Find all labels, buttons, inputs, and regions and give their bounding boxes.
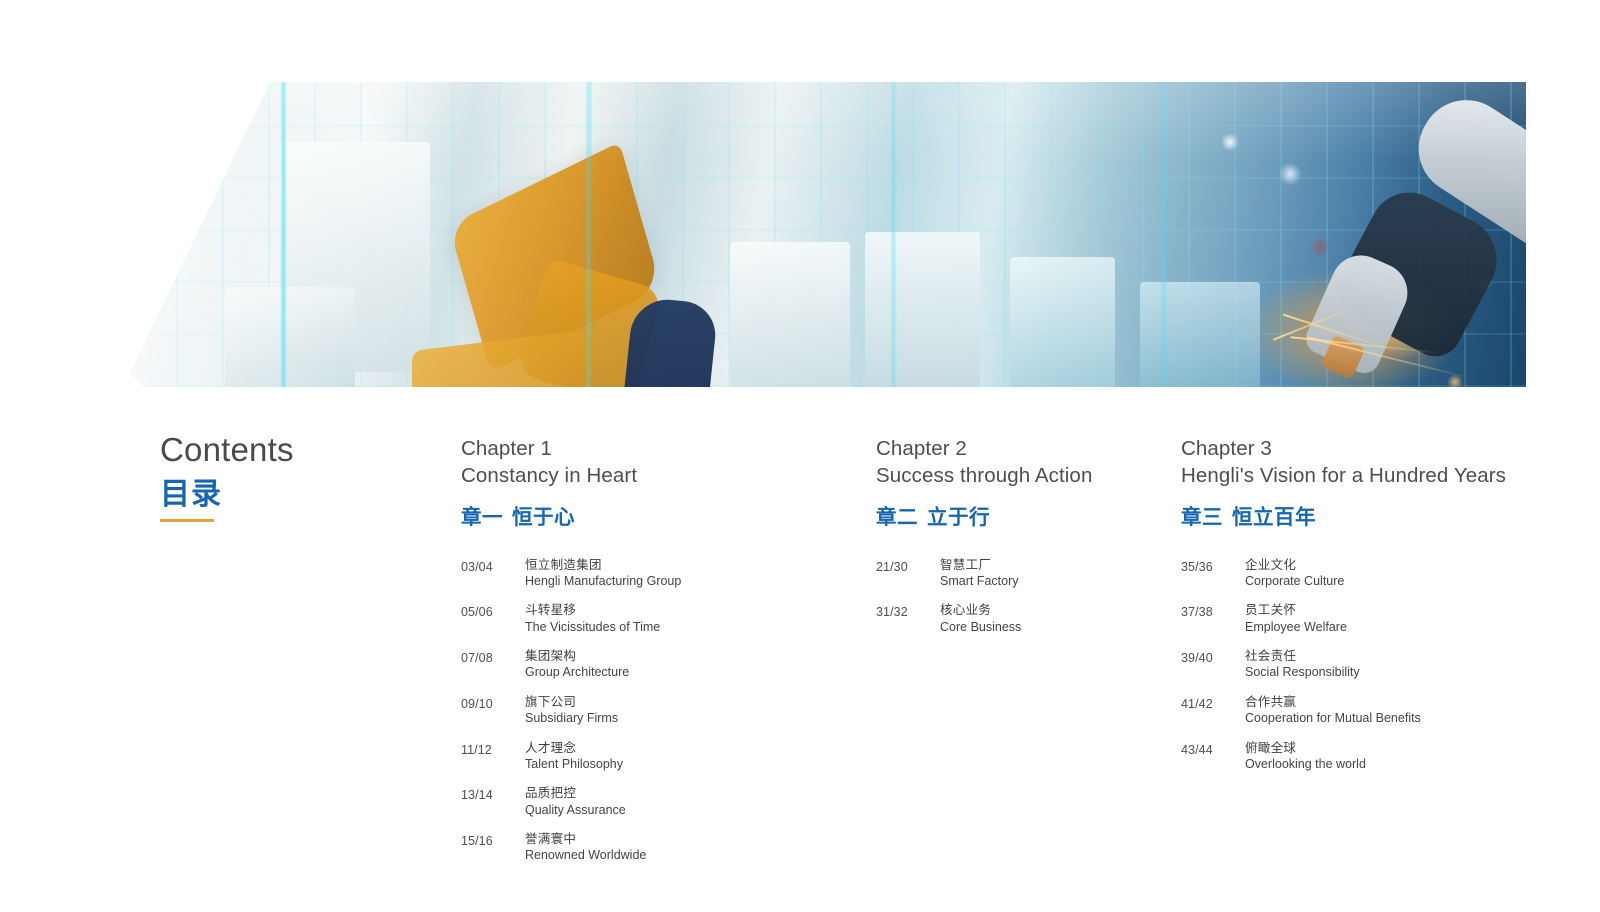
chapter-column-3: Chapter 3 Hengli's Vision for a Hundred … <box>1181 436 1581 786</box>
toc-page: Contents 目录 Chapter 1 Constancy in Heart… <box>0 0 1600 912</box>
machine-block <box>730 242 850 387</box>
toc-title-en: Subsidiary Firms <box>525 711 618 727</box>
toc-pages: 11/12 <box>461 741 507 773</box>
toc-title-zh: 斗转星移 <box>525 603 660 618</box>
toc-title-zh: 旗下公司 <box>525 695 618 710</box>
toc-list-3: 35/36 企业文化 Corporate Culture 37/38 员工关怀 … <box>1181 558 1581 773</box>
toc-pages: 21/30 <box>876 558 922 590</box>
page-title-zh: 目录 <box>160 479 420 511</box>
chapter-number-zh: 章二 <box>876 506 918 529</box>
hero-image <box>130 82 1526 387</box>
chapter-title-zh: 章二立于行 <box>876 500 1166 530</box>
toc-entry[interactable]: 09/10 旗下公司 Subsidiary Firms <box>461 695 851 727</box>
toc-entry[interactable]: 15/16 誉满寰中 Renowned Worldwide <box>461 832 851 864</box>
chapter-column-2: Chapter 2 Success through Action 章二立于行 2… <box>876 436 1166 649</box>
toc-title-zh: 企业文化 <box>1245 558 1344 573</box>
toc-entry[interactable]: 41/42 合作共赢 Cooperation for Mutual Benefi… <box>1181 695 1581 727</box>
toc-pages: 05/06 <box>461 603 507 635</box>
toc-entry[interactable]: 43/44 俯瞰全球 Overlooking the world <box>1181 741 1581 773</box>
toc-title-en: The Vicissitudes of Time <box>525 620 660 636</box>
toc-title-en: Corporate Culture <box>1245 574 1344 590</box>
toc-title-en: Smart Factory <box>940 574 1019 590</box>
toc-title-en: Quality Assurance <box>525 803 626 819</box>
chapter-number-zh: 章一 <box>461 506 503 529</box>
toc-title-zh: 集团架构 <box>525 649 629 664</box>
toc-title-zh: 俯瞰全球 <box>1245 741 1366 756</box>
toc-title-zh: 品质把控 <box>525 786 626 801</box>
toc-pages: 07/08 <box>461 649 507 681</box>
toc-pages: 13/14 <box>461 786 507 818</box>
chapter-label: Chapter 2 <box>876 436 1166 463</box>
toc-entry[interactable]: 13/14 品质把控 Quality Assurance <box>461 786 851 818</box>
machine-block <box>1010 257 1115 387</box>
toc-title-zh: 社会责任 <box>1245 649 1360 664</box>
toc-entry[interactable]: 35/36 企业文化 Corporate Culture <box>1181 558 1581 590</box>
chapter-name-zh: 恒立百年 <box>1232 506 1316 529</box>
toc-title-zh: 人才理念 <box>525 741 623 756</box>
toc-pages: 39/40 <box>1181 649 1227 681</box>
toc-title-zh: 合作共赢 <box>1245 695 1421 710</box>
machine-block <box>225 287 355 387</box>
contents-title-block: Contents 目录 <box>160 432 420 522</box>
chapter-title-en: Success through Action <box>876 463 1166 490</box>
chapter-label: Chapter 3 <box>1181 436 1581 463</box>
chapter-title-en: Hengli's Vision for a Hundred Years <box>1181 463 1581 490</box>
toc-entry[interactable]: 31/32 核心业务 Core Business <box>876 603 1166 635</box>
toc-entry[interactable]: 21/30 智慧工厂 Smart Factory <box>876 558 1166 590</box>
toc-title-en: Talent Philosophy <box>525 757 623 773</box>
chapter-label: Chapter 1 <box>461 436 851 463</box>
toc-title-zh: 智慧工厂 <box>940 558 1019 573</box>
title-underline <box>160 519 214 522</box>
toc-pages: 03/04 <box>461 558 507 590</box>
machine-block <box>1140 282 1260 387</box>
toc-entry[interactable]: 39/40 社会责任 Social Responsibility <box>1181 649 1581 681</box>
chapter-title-en: Constancy in Heart <box>461 463 851 490</box>
toc-list-1: 03/04 恒立制造集团 Hengli Manufacturing Group … <box>461 558 851 864</box>
toc-entry[interactable]: 03/04 恒立制造集团 Hengli Manufacturing Group <box>461 558 851 590</box>
toc-entry[interactable]: 07/08 集团架构 Group Architecture <box>461 649 851 681</box>
toc-title-zh: 誉满寰中 <box>525 832 646 847</box>
toc-entry[interactable]: 11/12 人才理念 Talent Philosophy <box>461 741 851 773</box>
toc-title-zh: 员工关怀 <box>1245 603 1347 618</box>
toc-pages: 09/10 <box>461 695 507 727</box>
toc-list-2: 21/30 智慧工厂 Smart Factory 31/32 核心业务 Core… <box>876 558 1166 636</box>
toc-title-en: Hengli Manufacturing Group <box>525 574 681 590</box>
toc-title-en: Social Responsibility <box>1245 665 1360 681</box>
toc-pages: 15/16 <box>461 832 507 864</box>
chapter-title-zh: 章一恒于心 <box>461 500 851 530</box>
toc-title-en: Renowned Worldwide <box>525 848 646 864</box>
toc-title-en: Overlooking the world <box>1245 757 1366 773</box>
toc-title-en: Employee Welfare <box>1245 620 1347 636</box>
toc-title-zh: 恒立制造集团 <box>525 558 681 573</box>
machine-block <box>865 232 980 387</box>
chapter-number-zh: 章三 <box>1181 506 1223 529</box>
toc-pages: 31/32 <box>876 603 922 635</box>
toc-pages: 43/44 <box>1181 741 1227 773</box>
toc-pages: 35/36 <box>1181 558 1227 590</box>
chapter-column-1: Chapter 1 Constancy in Heart 章一恒于心 03/04… <box>461 436 851 878</box>
toc-entry[interactable]: 37/38 员工关怀 Employee Welfare <box>1181 603 1581 635</box>
page-title: Contents <box>160 432 420 468</box>
toc-title-en: Cooperation for Mutual Benefits <box>1245 711 1421 727</box>
toc-pages: 41/42 <box>1181 695 1227 727</box>
toc-title-en: Group Architecture <box>525 665 629 681</box>
hero-banner <box>130 82 1526 387</box>
toc-entry[interactable]: 05/06 斗转星移 The Vicissitudes of Time <box>461 603 851 635</box>
chapter-name-zh: 恒于心 <box>512 506 575 529</box>
chapter-name-zh: 立于行 <box>927 506 990 529</box>
toc-title-en: Core Business <box>940 620 1021 636</box>
chapter-title-zh: 章三恒立百年 <box>1181 500 1581 530</box>
toc-title-zh: 核心业务 <box>940 603 1021 618</box>
toc-pages: 37/38 <box>1181 603 1227 635</box>
